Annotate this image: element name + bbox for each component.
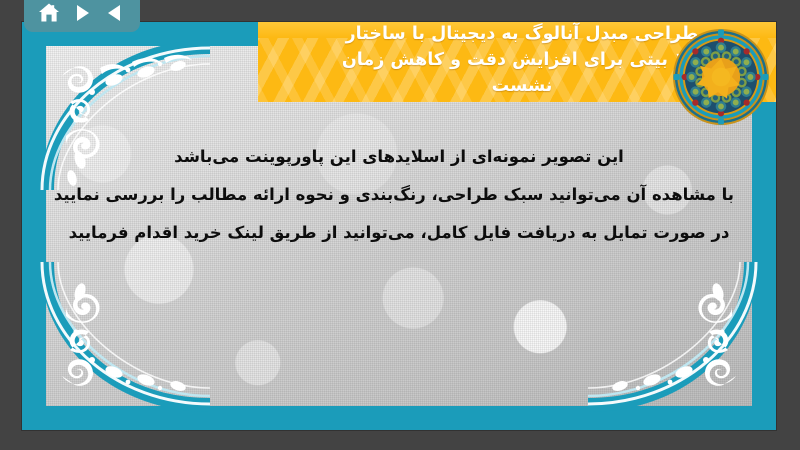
home-icon	[37, 1, 61, 25]
body-line-3: در صورت تمایل به دریافت فایل کامل، می‌تو…	[64, 214, 734, 252]
persian-mandala-medallion	[672, 28, 770, 126]
navigation-toolbar	[24, 0, 140, 32]
home-button[interactable]	[36, 0, 62, 26]
next-slide-button[interactable]	[69, 0, 95, 26]
previous-slide-button[interactable]	[102, 0, 128, 26]
body-line-2: با مشاهده آن می‌توانید سبک طراحی، رنگ‌بن…	[64, 176, 734, 214]
triangle-left-icon	[104, 2, 126, 24]
triangle-right-icon	[71, 2, 93, 24]
body-line-1: این تصویر نمونه‌ای از اسلایدهای این پاور…	[64, 138, 734, 176]
slide-viewer: طراحی مبدل آنالوگ به دیجیتال با ساختار ۱…	[0, 0, 800, 450]
slide-canvas: طراحی مبدل آنالوگ به دیجیتال با ساختار ۱…	[22, 22, 776, 430]
slide-body-text: این تصویر نمونه‌ای از اسلایدهای این پاور…	[64, 138, 734, 252]
